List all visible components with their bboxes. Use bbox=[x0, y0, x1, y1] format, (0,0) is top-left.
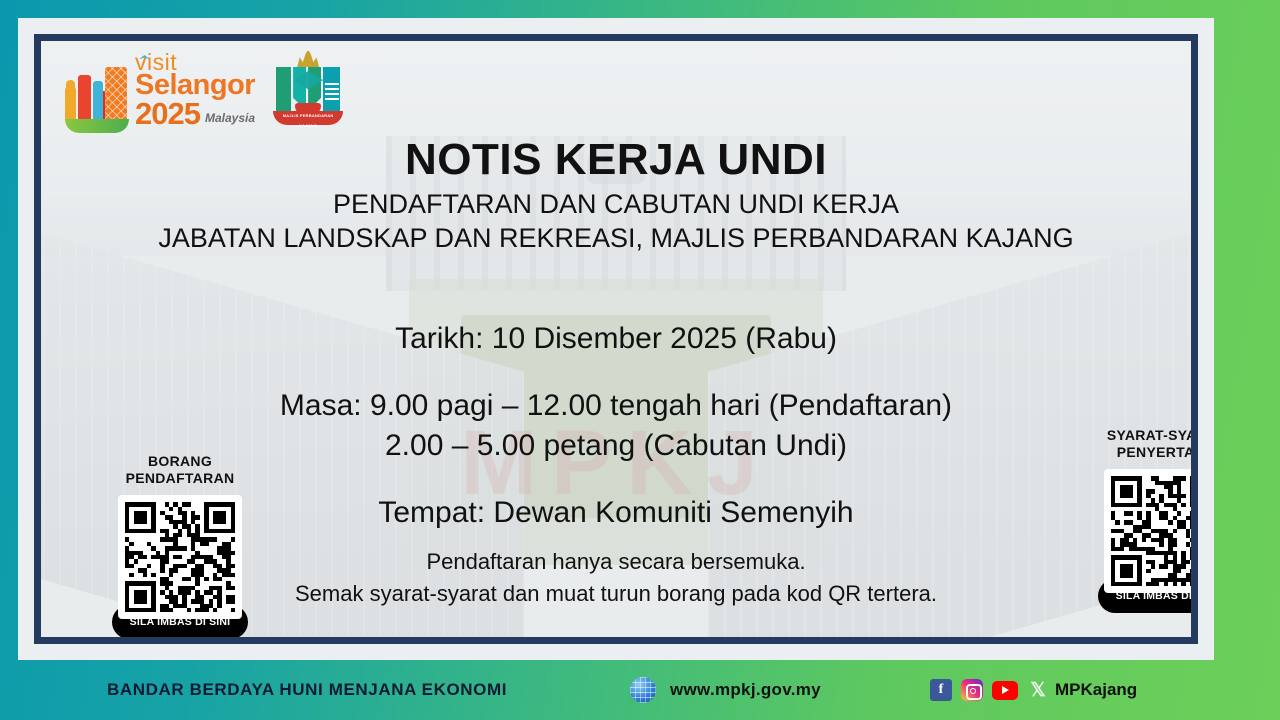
facebook-icon[interactable]: f bbox=[930, 679, 952, 701]
poster-main-title: NOTIS KERJA UNDI bbox=[41, 136, 1191, 184]
vs-country-text: Malaysia bbox=[205, 112, 255, 129]
crown-icon bbox=[297, 51, 319, 67]
footer-tagline: BANDAR BERDAYA HUNI MENJANA EKONOMI bbox=[107, 680, 507, 700]
qr-right-caption-1: SYARAT-SYARAT bbox=[1071, 427, 1198, 444]
qr-terms-block[interactable]: SYARAT-SYARAT PENYERTAAN SILA IMBAS DI S… bbox=[1071, 427, 1198, 593]
crest-ribbon: MAJLIS PERBANDARAN KAJANG bbox=[273, 111, 343, 125]
footer-website-url[interactable]: www.mpkj.gov.my bbox=[670, 680, 821, 700]
footer-bar: BANDAR BERDAYA HUNI MENJANA EKONOMI www.… bbox=[0, 660, 1280, 720]
instagram-icon[interactable] bbox=[961, 679, 983, 701]
qr-right-caption-2: PENYERTAAN bbox=[1071, 444, 1198, 461]
poster-subtitle-2: JABATAN LANDSKAP DAN REKREASI, MAJLIS PE… bbox=[41, 222, 1191, 256]
vs-year-text: 2025 bbox=[135, 98, 200, 129]
qr-registration-form-block[interactable]: BORANG PENDAFTARAN SILA IMBAS DI SINI bbox=[85, 453, 275, 619]
qr-left-caption-1: BORANG bbox=[85, 453, 275, 470]
footer-social-icons[interactable]: f 𝕏 bbox=[930, 679, 1049, 701]
youtube-icon[interactable] bbox=[992, 681, 1018, 700]
poster-content: visit Selangor 2025 Malaysia bbox=[41, 41, 1191, 637]
mpkj-crest-logo: MAJLIS PERBANDARAN KAJANG bbox=[273, 51, 343, 129]
qr-code-registration[interactable] bbox=[125, 502, 235, 612]
crest-ribbon-text: MAJLIS PERBANDARAN KAJANG bbox=[273, 111, 343, 131]
footer-social-handle: MPKajang bbox=[1055, 680, 1137, 700]
qr-left-caption-2: PENDAFTARAN bbox=[85, 470, 275, 487]
visit-selangor-wordmark: visit Selangor 2025 Malaysia bbox=[135, 51, 255, 133]
event-date: Tarikh: 10 Disember 2025 (Rabu) bbox=[41, 319, 1191, 360]
poster-white-frame: MPKJ visit Selangor 2025 Malaysia bbox=[18, 18, 1214, 660]
qr-code-terms[interactable] bbox=[1111, 476, 1198, 586]
globe-icon bbox=[630, 677, 656, 703]
visit-selangor-logo: visit Selangor 2025 Malaysia bbox=[65, 51, 255, 133]
x-icon[interactable]: 𝕏 bbox=[1027, 679, 1049, 701]
event-time-line-1: Masa: 9.00 pagi – 12.00 tengah hari (Pen… bbox=[41, 386, 1191, 427]
logo-row: visit Selangor 2025 Malaysia bbox=[65, 51, 343, 133]
visit-selangor-towers-icon bbox=[65, 65, 129, 133]
footer-website-group[interactable]: www.mpkj.gov.my bbox=[630, 677, 821, 703]
poster-title-block: NOTIS KERJA UNDI PENDAFTARAN DAN CABUTAN… bbox=[41, 136, 1191, 256]
poster-subtitle-1: PENDAFTARAN DAN CABUTAN UNDI KERJA bbox=[41, 188, 1191, 222]
poster-navy-frame: MPKJ visit Selangor 2025 Malaysia bbox=[34, 34, 1198, 644]
